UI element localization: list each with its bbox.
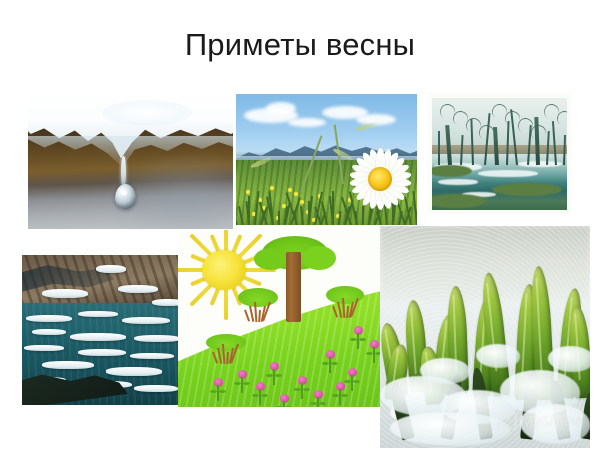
tree-crown [206,334,246,351]
flower-leaf [276,406,283,407]
flower-leaf [359,338,366,341]
flower-stem [273,369,274,385]
wildflower-dot [300,200,304,204]
pink-flower [278,394,290,407]
flower-leaf [353,380,360,383]
ice-floe [78,311,118,317]
tree-crown [326,286,364,304]
flower-stem [351,375,352,391]
flower-leaf [310,402,317,405]
grass-blade [416,211,417,225]
flower-leaf [234,382,241,385]
tree-branch [337,302,342,318]
sprouts-in-snow-photo[interactable]: MyShare [380,226,590,448]
melting-icicle-photo[interactable] [28,96,233,229]
pink-flower [236,370,248,396]
flower-leaf [243,382,250,385]
wildflower-dot [288,188,292,192]
flower-stem [241,377,242,393]
cloud-icon [288,118,326,127]
flower-leaf [252,394,259,397]
daisy-center [368,167,392,191]
flower-stem [329,357,330,373]
pink-flower [352,326,364,352]
tree-branch [332,306,338,318]
flower-leaf [261,394,268,397]
snow-crust [476,344,520,368]
ice-floe [130,353,174,359]
flower-leaf [331,362,338,365]
grass-blade [332,191,334,225]
pink-flower [212,378,224,404]
ice-floes-river-photo[interactable] [22,255,187,405]
flower-stem [259,389,260,405]
flower-leaf [266,374,273,377]
flower-leaf [332,394,339,397]
small-tree [326,286,364,318]
flower-leaf [350,338,357,341]
flower-stem [339,389,340,405]
daisy-meadow-photo[interactable] [236,94,417,225]
ice-drip-edge [28,136,233,170]
flower-stem [301,383,302,399]
tree-trunk [286,252,301,322]
ice-floe [26,315,72,322]
pink-flower [312,390,324,407]
ice-floe [96,265,126,273]
wildflower-dot [246,190,250,194]
flower-leaf [275,374,282,377]
ice-floe [106,367,162,376]
flower-leaf [303,388,310,391]
grass-blade [248,196,250,225]
pink-flower [254,382,266,407]
ice-floe [122,317,170,324]
pink-flower [324,350,336,376]
tree-crown [238,288,278,307]
watermark-label: MyShare [521,413,582,430]
flower-leaf [341,394,348,397]
wildflower-dot [294,192,298,196]
flower-leaf [219,390,226,393]
flower-leaf [322,362,329,365]
presentation-slide: Приметы весны [0,0,600,450]
snow-patch [478,170,538,177]
tree-branch [244,310,250,322]
flower-leaf [210,390,217,393]
myshare-logo-icon [498,413,517,430]
daisy-flower [347,146,413,212]
water-drop [115,184,136,209]
page-title: Приметы весны [0,28,600,62]
ice-floe [134,335,180,342]
ice-floe [78,349,126,356]
ice-floe [118,285,158,293]
snow-patch [438,179,478,185]
pink-flower [334,382,346,407]
small-tree [206,334,246,364]
tree-branch [249,306,254,322]
ice-floe [134,385,178,392]
pink-flower [296,376,308,402]
painting-canvas [432,98,567,210]
flower-stem [217,385,218,401]
grass-blade [278,211,280,225]
flower-stem [357,333,358,349]
cloud-icon [266,102,296,115]
small-tree [238,288,278,322]
tree-crown [302,246,336,270]
ice-floe [24,345,64,351]
flower-leaf [366,352,373,355]
tree-crown [254,248,288,270]
myshare-watermark: MyShare [498,413,582,430]
flower-leaf [294,388,301,391]
flower-leaf [285,406,292,407]
pink-flower [268,362,280,388]
flower-stem [373,347,374,363]
ice-floe [42,361,94,369]
pink-flower [346,368,358,394]
wildflower-dot [270,186,274,190]
tree-branch [212,352,218,364]
ice-highlight [102,100,192,126]
sun-icon [202,250,246,290]
ice-floe [70,333,126,341]
snow-crust [420,358,470,384]
pink-flower [368,340,380,366]
ice-floe [32,329,66,335]
bare-tree-trunk [438,131,440,165]
childrens-spring-drawing[interactable] [178,230,388,407]
flower-leaf [319,402,326,405]
flooded-forest-painting[interactable] [428,94,571,214]
ice-floe [42,289,88,298]
